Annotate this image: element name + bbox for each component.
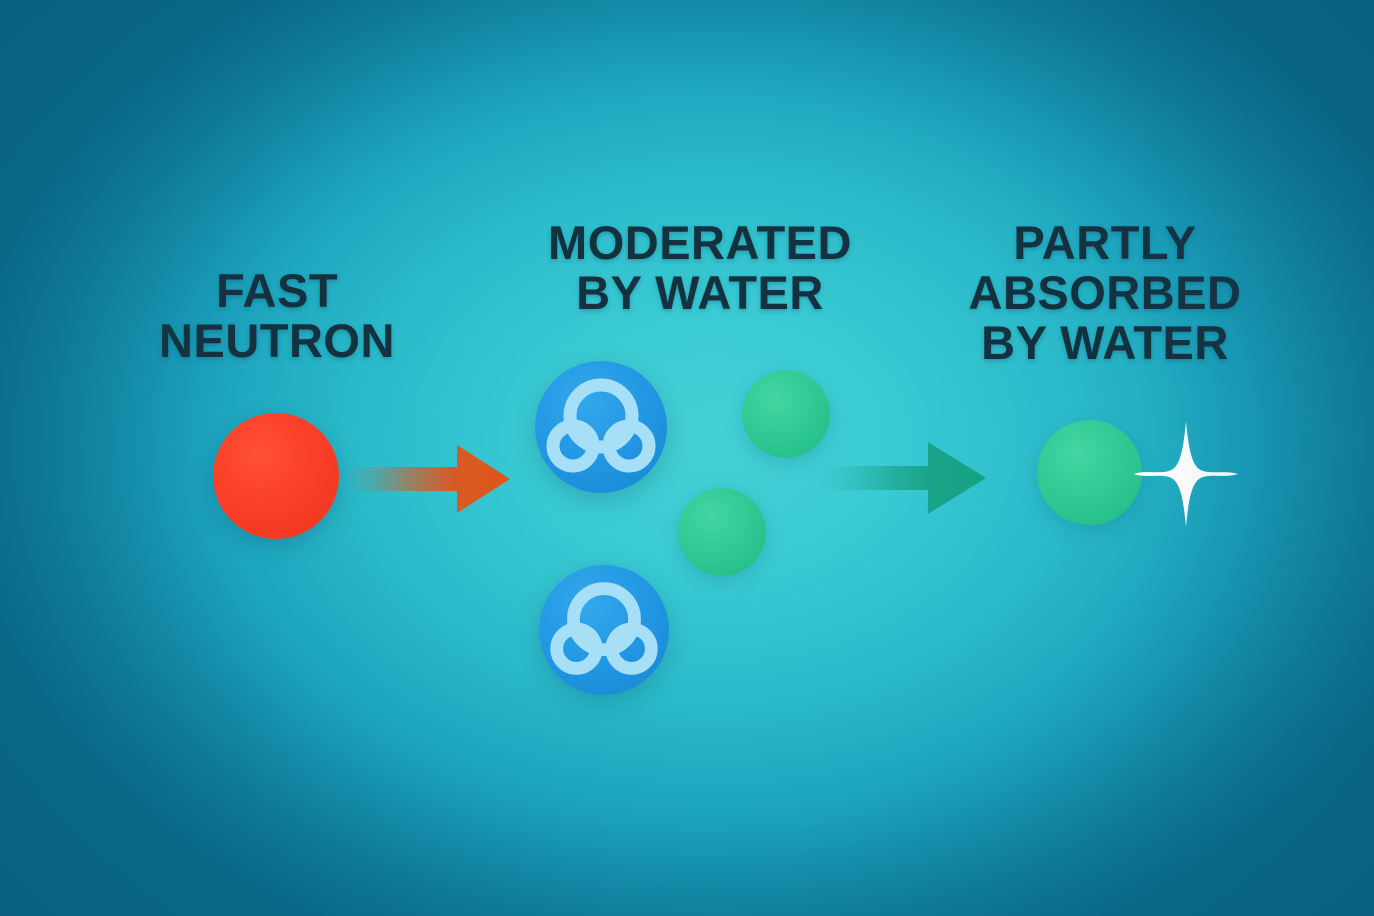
arrow-orange-right xyxy=(345,440,515,518)
label-partly-absorbed-by-water: PARTLY ABSORBED BY WATER xyxy=(930,218,1280,367)
diagram-canvas: FAST NEUTRON MODERATED BY WATER xyxy=(0,0,1374,916)
water-molecule-icon xyxy=(535,361,667,493)
absorbed-neutron-sphere xyxy=(1037,420,1142,525)
water-molecule-icon xyxy=(539,565,669,695)
sparkle-icon xyxy=(1131,418,1241,530)
label-fast-neutron: FAST NEUTRON xyxy=(112,266,442,366)
moderated-neutron-sphere xyxy=(678,488,766,576)
neutron-sphere-icon xyxy=(213,413,339,539)
arrow-green-right xyxy=(820,438,990,518)
label-moderated-by-water: MODERATED BY WATER xyxy=(520,218,880,318)
moderated-neutron-sphere xyxy=(742,370,830,458)
